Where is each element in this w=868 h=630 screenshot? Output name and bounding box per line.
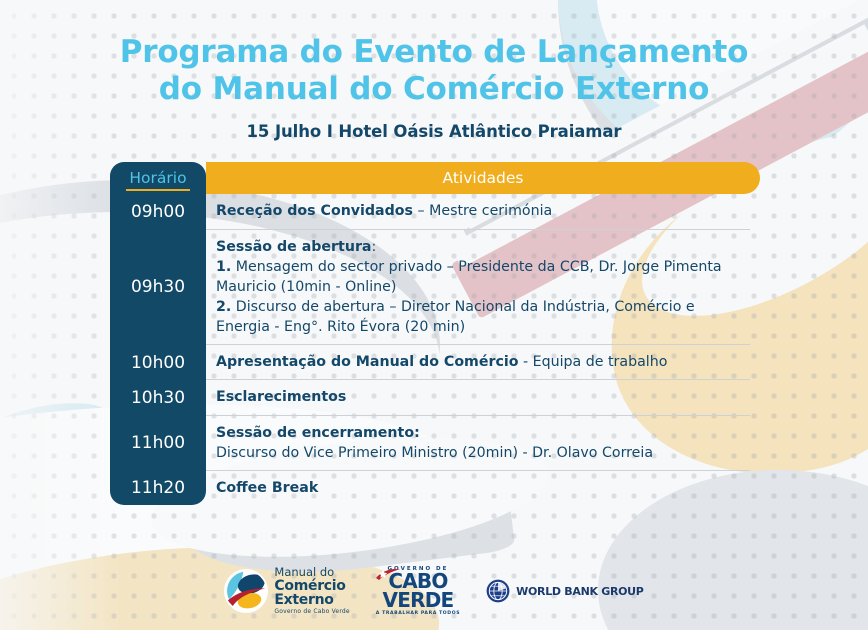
schedule-rows: 09h00Receção dos Convidados – Mestre cer… xyxy=(110,194,868,505)
time-header-underline xyxy=(126,189,190,191)
table-row: 11h00Sessão de encerramento:Discurso do … xyxy=(110,416,868,471)
column-header-activities: Atividades xyxy=(206,162,760,194)
world-bank-label: WORLD BANK GROUP xyxy=(516,585,643,598)
table-row: 09h00Receção dos Convidados – Mestre cer… xyxy=(110,194,868,229)
row-activity-line: Apresentação do Manual do Comércio - Equ… xyxy=(216,352,750,372)
logo-world-bank-group: WORLD BANK GROUP xyxy=(486,579,643,603)
row-activity-line: Discurso do Vice Primeiro Ministro (20mi… xyxy=(216,443,750,463)
row-activity: Apresentação do Manual do Comércio - Equ… xyxy=(206,345,750,380)
row-time: 09h30 xyxy=(110,230,206,346)
row-activity-line: Sessão de encerramento: xyxy=(216,423,750,443)
logo-governo-cabo-verde: GOVERNO DE CABO VERDE A TRABALHAR PARA T… xyxy=(376,566,460,616)
poster-canvas: Programa do Evento de Lançamento do Manu… xyxy=(0,0,868,630)
poster-content: Programa do Evento de Lançamento do Manu… xyxy=(0,0,868,505)
world-bank-globe-icon xyxy=(486,579,510,603)
table-row: 11h20Coffee Break xyxy=(110,471,868,505)
row-activity: Receção dos Convidados – Mestre cerimóni… xyxy=(206,194,750,229)
row-time: 11h20 xyxy=(110,471,206,505)
row-activity-line: Sessão de abertura: xyxy=(216,237,750,257)
cabo-verde-logo-tagline: A TRABALHAR PARA TODOS xyxy=(376,611,460,616)
manual-logo-line-3: Externo xyxy=(274,593,349,607)
logo-strip: Manual do Comércio Externo Governo de Ca… xyxy=(0,566,868,616)
table-row: 10h00Apresentação do Manual do Comércio … xyxy=(110,345,868,380)
cabo-verde-logo-line-2: VERDE xyxy=(376,591,460,609)
title-line-2: do Manual do Comércio Externo xyxy=(0,71,868,108)
row-time: 10h30 xyxy=(110,380,206,415)
row-activity-line: 1. Mensagem do sector privado – Presiden… xyxy=(216,257,750,297)
schedule-header-row: Horário Atividades xyxy=(110,162,760,194)
cabo-verde-star-swoosh-icon xyxy=(375,567,401,581)
title-line-1: Programa do Evento de Lançamento xyxy=(0,34,868,71)
event-subtitle: 15 Julho I Hotel Oásis Atlântico Praiama… xyxy=(0,122,868,141)
manual-logo-line-4: Governo de Cabo Verde xyxy=(274,609,349,615)
row-activity-line: Receção dos Convidados – Mestre cerimóni… xyxy=(216,201,750,221)
table-row: 10h30Esclarecimentos xyxy=(110,380,868,415)
manual-logo-line-2: Comércio xyxy=(274,579,349,593)
row-time: 09h00 xyxy=(110,194,206,229)
page-title: Programa do Evento de Lançamento do Manu… xyxy=(0,0,868,108)
row-activity-line: 2. Discurso de abertura – Diretor Nacion… xyxy=(216,297,750,337)
schedule-table: Horário Atividades 09h00Receção dos Conv… xyxy=(0,162,868,505)
row-activity: Sessão de abertura:1. Mensagem do sector… xyxy=(206,230,750,346)
table-row: 09h30Sessão de abertura:1. Mensagem do s… xyxy=(110,230,868,346)
manual-comercio-externo-mark-icon xyxy=(224,569,268,613)
manual-logo-text: Manual do Comércio Externo Governo de Ca… xyxy=(274,567,349,615)
row-activity-line: Esclarecimentos xyxy=(216,387,750,407)
column-header-time-label: Horário xyxy=(129,169,186,187)
column-header-activities-label: Atividades xyxy=(443,169,524,187)
logo-manual-comercio-externo: Manual do Comércio Externo Governo de Ca… xyxy=(224,567,349,615)
row-activity-line: Coffee Break xyxy=(216,478,750,498)
row-time: 10h00 xyxy=(110,345,206,380)
row-activity: Esclarecimentos xyxy=(206,380,750,415)
row-activity: Coffee Break xyxy=(206,471,750,505)
row-activity: Sessão de encerramento:Discurso do Vice … xyxy=(206,416,750,471)
row-time: 11h00 xyxy=(110,416,206,471)
column-header-time: Horário xyxy=(110,162,206,194)
